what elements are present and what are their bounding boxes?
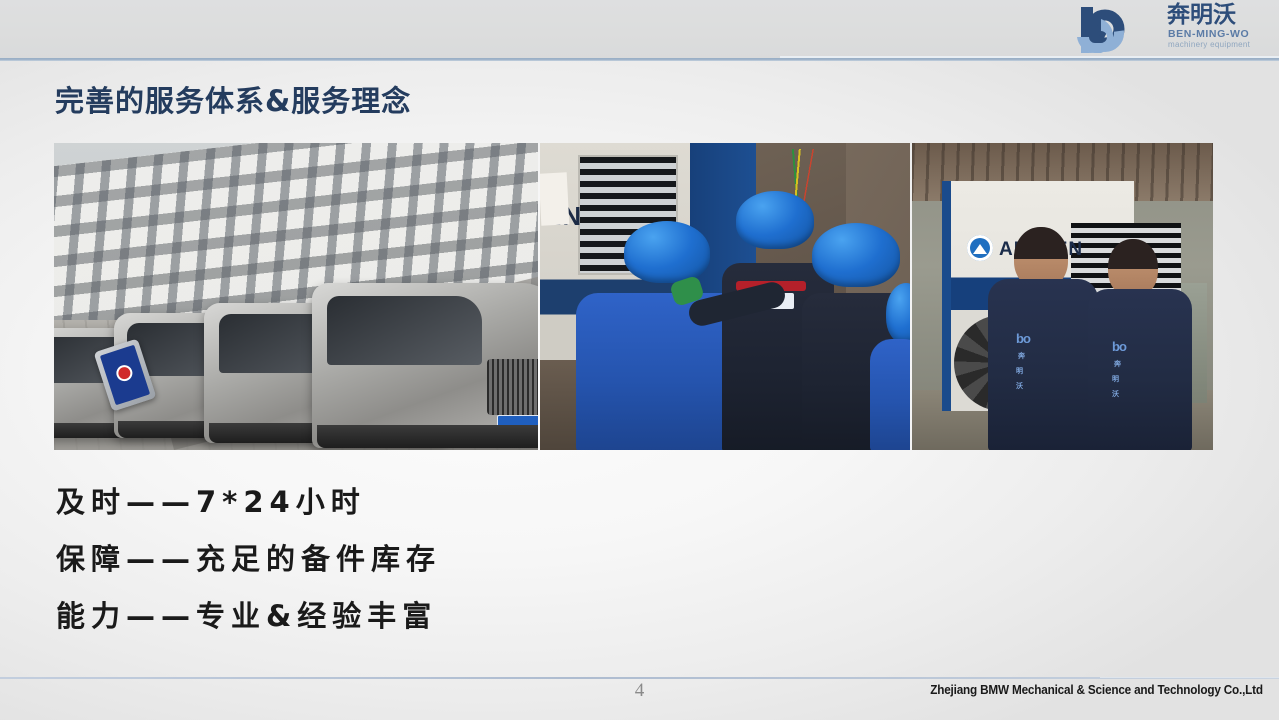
photo-strip: EN (54, 143, 1213, 450)
slide-title: 完善的服务体系&服务理念 (55, 78, 411, 120)
aerzen-blower-service-photo: AERZEN bo奔明沃 bo奔明沃 (912, 143, 1213, 450)
footer-company-name: Zhejiang BMW Mechanical & Science and Te… (930, 683, 1263, 697)
header-divider (0, 58, 1279, 61)
company-uniform (1088, 289, 1192, 450)
company-logo: 奔明沃 BEN-MING-WO machinery equipment (1075, 3, 1265, 55)
uniform-bo-logo-icon: bo奔明沃 (1112, 339, 1126, 399)
list-item: 及时——7*24小时 (56, 474, 756, 531)
logo-tagline: machinery equipment (1168, 40, 1250, 49)
hard-hat-icon (736, 191, 814, 249)
slide: 奔明沃 BEN-MING-WO machinery equipment 完善的服… (0, 0, 1279, 720)
hard-hat-icon (812, 223, 900, 287)
blue-uniform (870, 339, 910, 450)
parked-car (312, 283, 538, 448)
bumper (317, 425, 538, 448)
footer-divider (0, 677, 1279, 679)
list-item: 能力——专业&经验丰富 (56, 588, 756, 645)
no-parking-icon (114, 363, 134, 383)
hard-hat-icon (624, 221, 710, 283)
list-item: 保障——充足的备件库存 (56, 531, 756, 588)
uniform-bo-logo-icon: bo奔明沃 (1016, 331, 1030, 391)
bo-monogram-icon (1075, 5, 1167, 53)
logo-wordmark: 奔明沃 BEN-MING-WO machinery equipment (1167, 3, 1265, 53)
slide-header: 奔明沃 BEN-MING-WO machinery equipment (0, 0, 1279, 60)
logo-chinese-name: 奔明沃 (1167, 3, 1236, 28)
service-commitment-list: 及时——7*24小时 保障——充足的备件库存 能力——专业&经验丰富 (56, 474, 756, 645)
posted-notice (540, 172, 569, 225)
logo-romanized-name: BEN-MING-WO (1168, 28, 1249, 40)
onsite-maintenance-photo: EN (540, 143, 910, 450)
company-uniform (988, 279, 1098, 450)
service-fleet-photo (54, 143, 538, 450)
windshield (327, 296, 482, 365)
aerzen-logo-icon (967, 235, 993, 261)
front-grille (487, 359, 538, 415)
